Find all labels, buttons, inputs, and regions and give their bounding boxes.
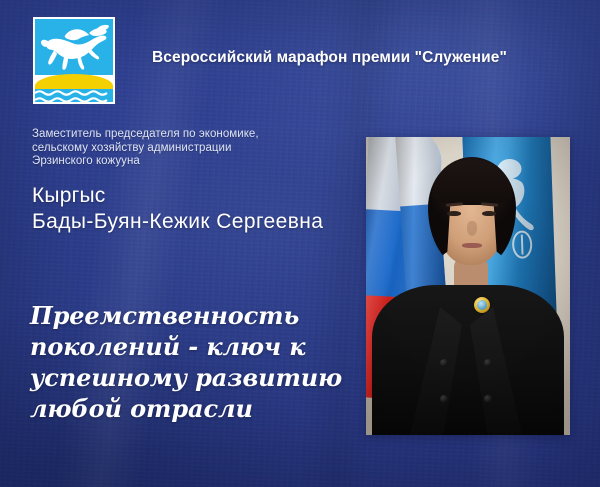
page-title: Всероссийский марафон премии "Служение" (152, 49, 552, 67)
person-role-line-2: сельскому хозяйству администрации (32, 142, 232, 154)
person-photo (366, 137, 570, 435)
portrait-eye-right (482, 211, 496, 216)
lapel-badge-icon (474, 297, 490, 313)
person-role-line-3: Эрзинского кожууна (32, 155, 140, 167)
header-bar: Всероссийский марафон премии "Служение" (0, 0, 600, 118)
quote-text: Преемственность поколений - ключ к успеш… (30, 300, 360, 424)
portrait-hair-top (432, 159, 512, 205)
emblem-water-field (35, 89, 113, 102)
portrait-button-2 (440, 395, 448, 403)
portrait-mouth (462, 243, 482, 248)
quote-line-2: поколений - ключ к (30, 332, 305, 361)
lapel-badge-inner (477, 300, 487, 310)
coat-of-arms-emblem (33, 17, 115, 104)
emblem-waves-icon (35, 89, 113, 104)
portrait-button-3 (484, 359, 492, 367)
quote-line-3: успешному развитию (30, 363, 342, 392)
portrait-nose (467, 221, 477, 236)
quote-line-1: Преемственность (30, 301, 299, 330)
poster-card: Всероссийский марафон премии "Служение" … (0, 0, 600, 487)
portrait-blazer (372, 285, 564, 435)
person-info-block: Заместитель председателя по экономике, с… (32, 128, 352, 235)
person-surname: Кыргыс (32, 183, 352, 209)
person-role: Заместитель председателя по экономике, с… (32, 128, 352, 169)
portrait-eye-left (447, 211, 461, 216)
portrait-button-4 (484, 395, 492, 403)
winged-horse-icon (39, 21, 109, 75)
portrait-button-1 (440, 359, 448, 367)
person-role-line-1: Заместитель председателя по экономике, (32, 128, 259, 140)
quote-line-4: любой отрасли (30, 394, 253, 423)
portrait-figure (366, 137, 570, 435)
person-name: Кыргыс Бады-Буян-Кежик Сергеевна (32, 183, 352, 235)
person-given-name: Бады-Буян-Кежик Сергеевна (32, 209, 352, 235)
emblem-land-field (35, 74, 113, 90)
